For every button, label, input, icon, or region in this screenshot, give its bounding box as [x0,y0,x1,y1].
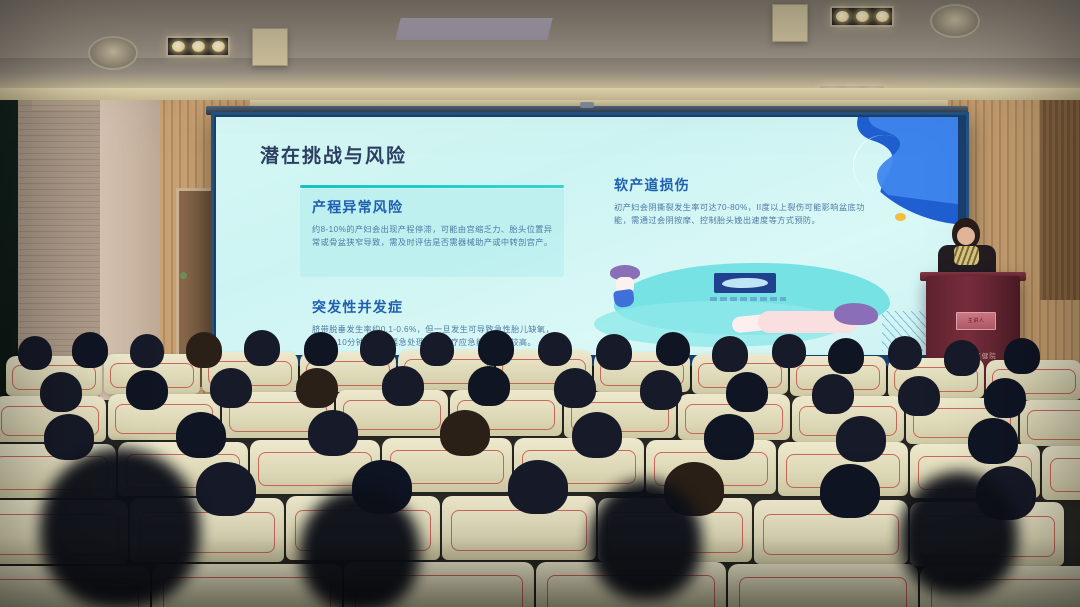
section-3-heading: 软产道损伤 [614,175,876,195]
audience-head [126,370,168,410]
audience-head [44,414,94,460]
audience-head [772,334,806,368]
audience-head [508,460,568,514]
spotlight-cluster [830,6,894,27]
seat [1020,400,1080,446]
speaker-scarf [954,246,979,265]
audience-head [944,340,980,376]
spot-lamp [172,41,185,52]
spot-lamp [836,11,849,22]
spot-lamp [192,41,205,52]
lecture-hall-photo: 潜在挑战与风险 产程异常风险 约8-10%的产妇会出现产程停滞，可能由宫缩乏力、… [0,0,1080,607]
audience-area [0,330,1080,607]
door-handle-icon[interactable] [180,272,187,279]
audience-head [554,368,596,408]
audience-head [210,368,252,408]
decorative-dot-icon [895,213,906,221]
slide-section-3: 软产道损伤 初产妇会阴撕裂发生率可达70-80%，II度以上裂伤可能影响盆底功能… [614,175,876,228]
foreground-shadow [0,537,1080,607]
audience-head [296,368,338,408]
spot-lamp [856,11,869,22]
accent-line [300,185,564,188]
audience-head [18,336,52,370]
audience-head [656,332,690,366]
section-2-heading: 突发性并发症 [312,297,562,317]
slide-title: 潜在挑战与风险 [260,141,407,168]
audience-head [420,332,454,366]
audience-head [712,336,748,372]
speaker-nameplate: 主讲人 [956,312,996,330]
seat [1042,446,1080,500]
audience-head [244,330,280,366]
figure-legs [613,289,635,309]
audience-head [968,418,1018,464]
section-1-heading: 产程异常风险 [312,197,558,217]
section-1-body: 约8-10%的产妇会出现产程停滞，可能由宫缩乏力、胎头位置异常或骨盆狭窄导致，需… [312,223,558,250]
audience-head [360,330,396,366]
audience-head [440,410,490,456]
audience-head [304,332,338,366]
ceiling-shadow [0,58,1080,88]
nameplate-text: 主讲人 [957,317,995,324]
presentation-slide: 潜在挑战与风险 产程异常风险 约8-10%的产妇会出现产程停滞，可能由宫缩乏力、… [216,117,958,355]
illustration-figure-standing [604,265,650,309]
audience-head [72,332,108,368]
audience-head [308,410,358,456]
audience-head [828,338,864,374]
spot-lamp [876,11,889,22]
audience-head [382,366,424,406]
round-downlight [930,4,980,38]
audience-head [130,334,164,368]
ceiling-vent [395,18,552,40]
audience-head [640,370,682,410]
audience-head [478,330,514,366]
audience-head [596,334,632,370]
audience-head [836,416,886,462]
audience-head [468,366,510,406]
ceiling-fixture [772,4,808,42]
audience-head [40,372,82,412]
slide-section-1: 产程异常风险 约8-10%的产妇会出现产程停滞，可能由宫缩乏力、胎头位置异常或骨… [312,197,558,250]
ceiling-fixture [252,28,288,66]
section-3-body: 初产妇会阴撕裂发生率可达70-80%，II度以上裂伤可能影响盆底功能，需通过会阴… [614,201,876,228]
audience-head [984,378,1026,418]
spot-lamp [212,41,225,52]
audience-head [572,412,622,458]
audience-head [196,462,256,516]
speaker-face [957,227,975,245]
audience-head [888,336,922,370]
audience-head [726,372,768,412]
figure-hair [834,303,878,325]
spotlight-cluster [166,36,230,57]
audience-head [186,332,222,368]
wood-slat-wall-far-right [1040,100,1080,300]
round-downlight [88,36,138,70]
audience-head [704,414,754,460]
audience-head [898,376,940,416]
audience-head [1004,338,1040,374]
audience-head [820,464,880,518]
illustration-badge-icon [714,273,776,293]
audience-head [176,412,226,458]
audience-head [812,374,854,414]
audience-head [538,332,572,366]
